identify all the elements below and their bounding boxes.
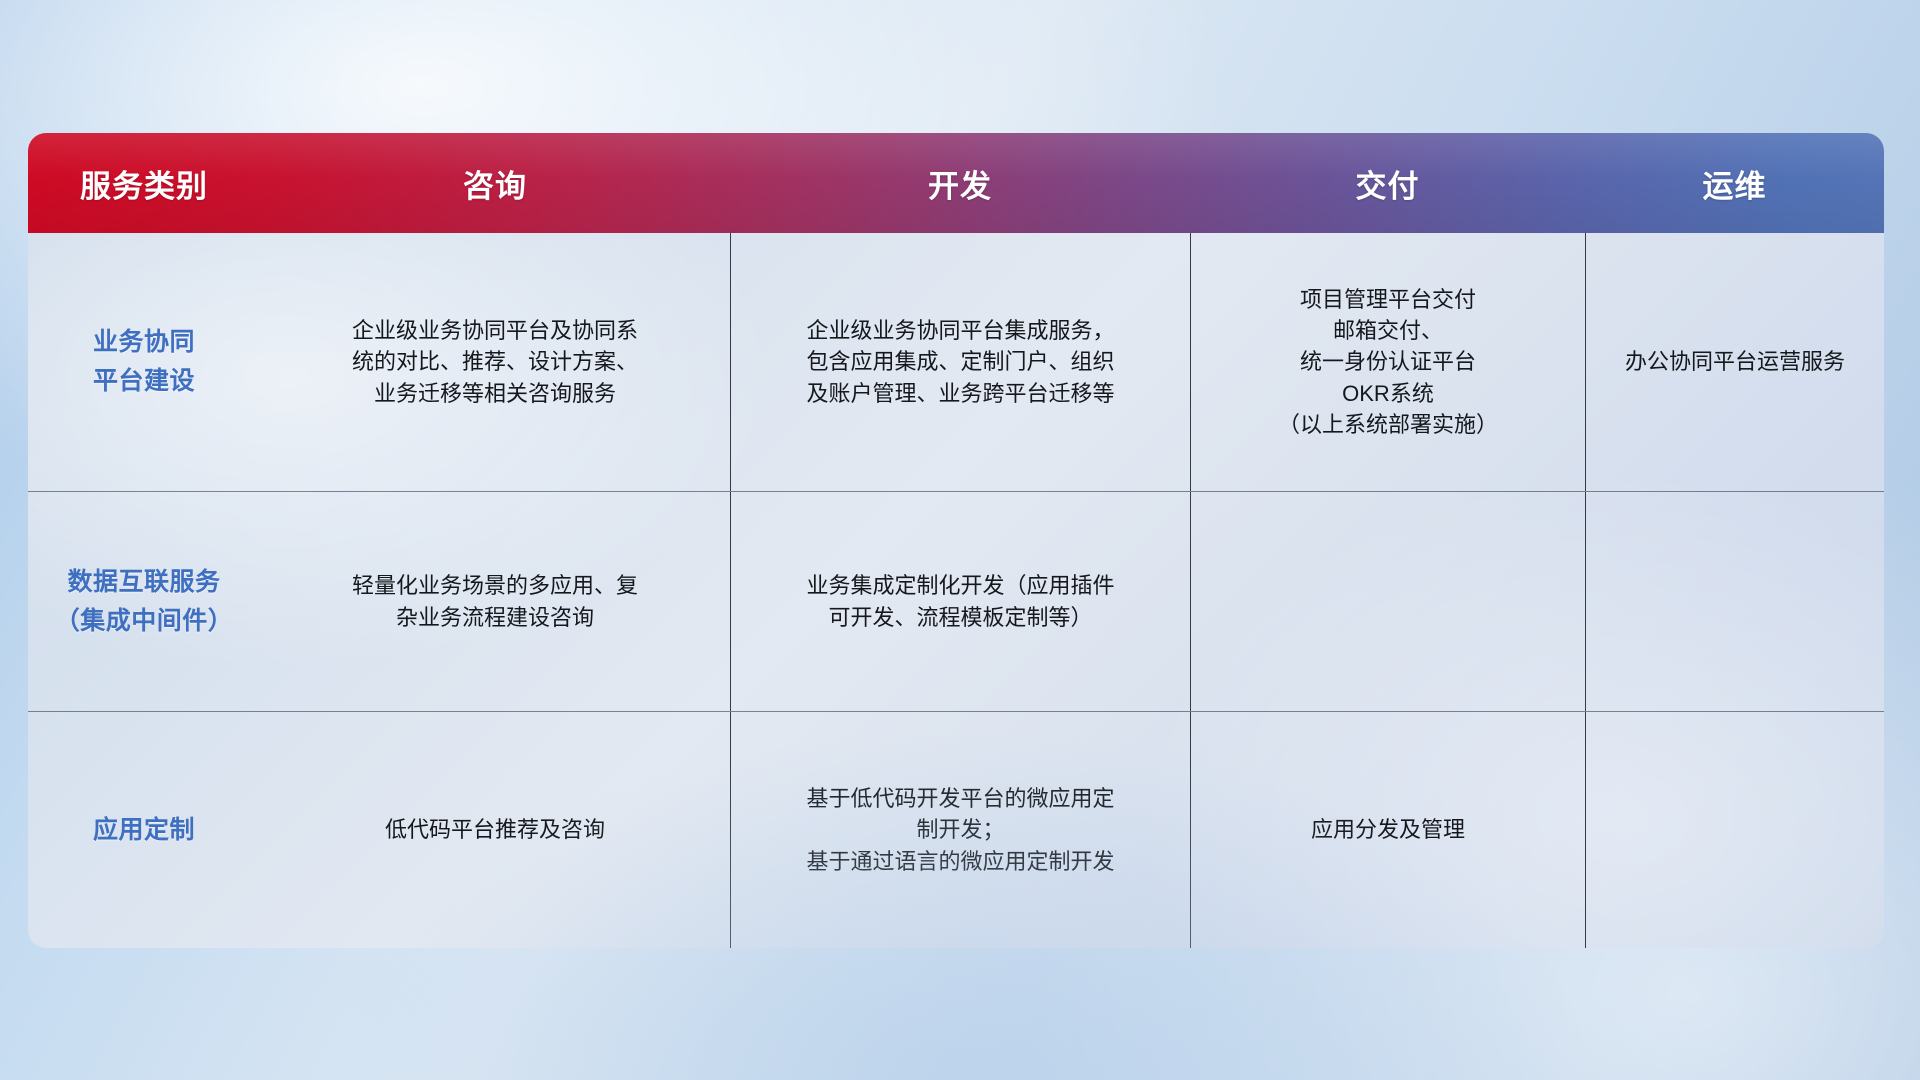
cell-consulting-1: 企业级业务协同平台及协同系 统的对比、推荐、设计方案、 业务迁移等相关咨询服务 [260,233,730,491]
slide-canvas: 服务类别 咨询 开发 交付 运维 业务协同 平台建设 企业级业务协同平台及协同系… [0,0,1920,1080]
column-header-delivery: 交付 [1190,161,1585,206]
column-header-operations: 运维 [1585,161,1884,206]
cell-delivery-1: 项目管理平台交付 邮箱交付、 统一身份认证平台 OKR系统 （以上系统部署实施） [1190,233,1585,491]
cell-development-2: 业务集成定制化开发（应用插件 可开发、流程模板定制等） [730,492,1190,711]
column-header-category: 服务类别 [28,161,260,206]
cell-delivery-2 [1190,492,1585,711]
table-row: 业务协同 平台建设 企业级业务协同平台及协同系 统的对比、推荐、设计方案、 业务… [28,233,1884,491]
table-row: 应用定制 低代码平台推荐及咨询 基于低代码开发平台的微应用定 制开发； 基于通过… [28,711,1884,948]
cell-development-1: 企业级业务协同平台集成服务， 包含应用集成、定制门户、组织 及账户管理、业务跨平… [730,233,1190,491]
cell-delivery-3: 应用分发及管理 [1190,712,1585,948]
cell-consulting-2: 轻量化业务场景的多应用、复 杂业务流程建设咨询 [260,492,730,711]
cell-category-2: 数据互联服务 （集成中间件） [28,492,260,711]
column-header-consulting: 咨询 [260,161,730,206]
column-header-development: 开发 [730,161,1190,206]
cell-consulting-3: 低代码平台推荐及咨询 [260,712,730,948]
table-header-row: 服务类别 咨询 开发 交付 运维 [28,133,1884,233]
cell-development-3: 基于低代码开发平台的微应用定 制开发； 基于通过语言的微应用定制开发 [730,712,1190,948]
cell-category-1: 业务协同 平台建设 [28,233,260,491]
cell-operations-2 [1585,492,1884,711]
table-body: 业务协同 平台建设 企业级业务协同平台及协同系 统的对比、推荐、设计方案、 业务… [28,233,1884,948]
cell-operations-1: 办公协同平台运营服务 [1585,233,1884,491]
cell-category-3: 应用定制 [28,712,260,948]
table-row: 数据互联服务 （集成中间件） 轻量化业务场景的多应用、复 杂业务流程建设咨询 业… [28,491,1884,711]
service-matrix-table: 服务类别 咨询 开发 交付 运维 业务协同 平台建设 企业级业务协同平台及协同系… [28,133,1884,948]
cell-operations-3 [1585,712,1884,948]
